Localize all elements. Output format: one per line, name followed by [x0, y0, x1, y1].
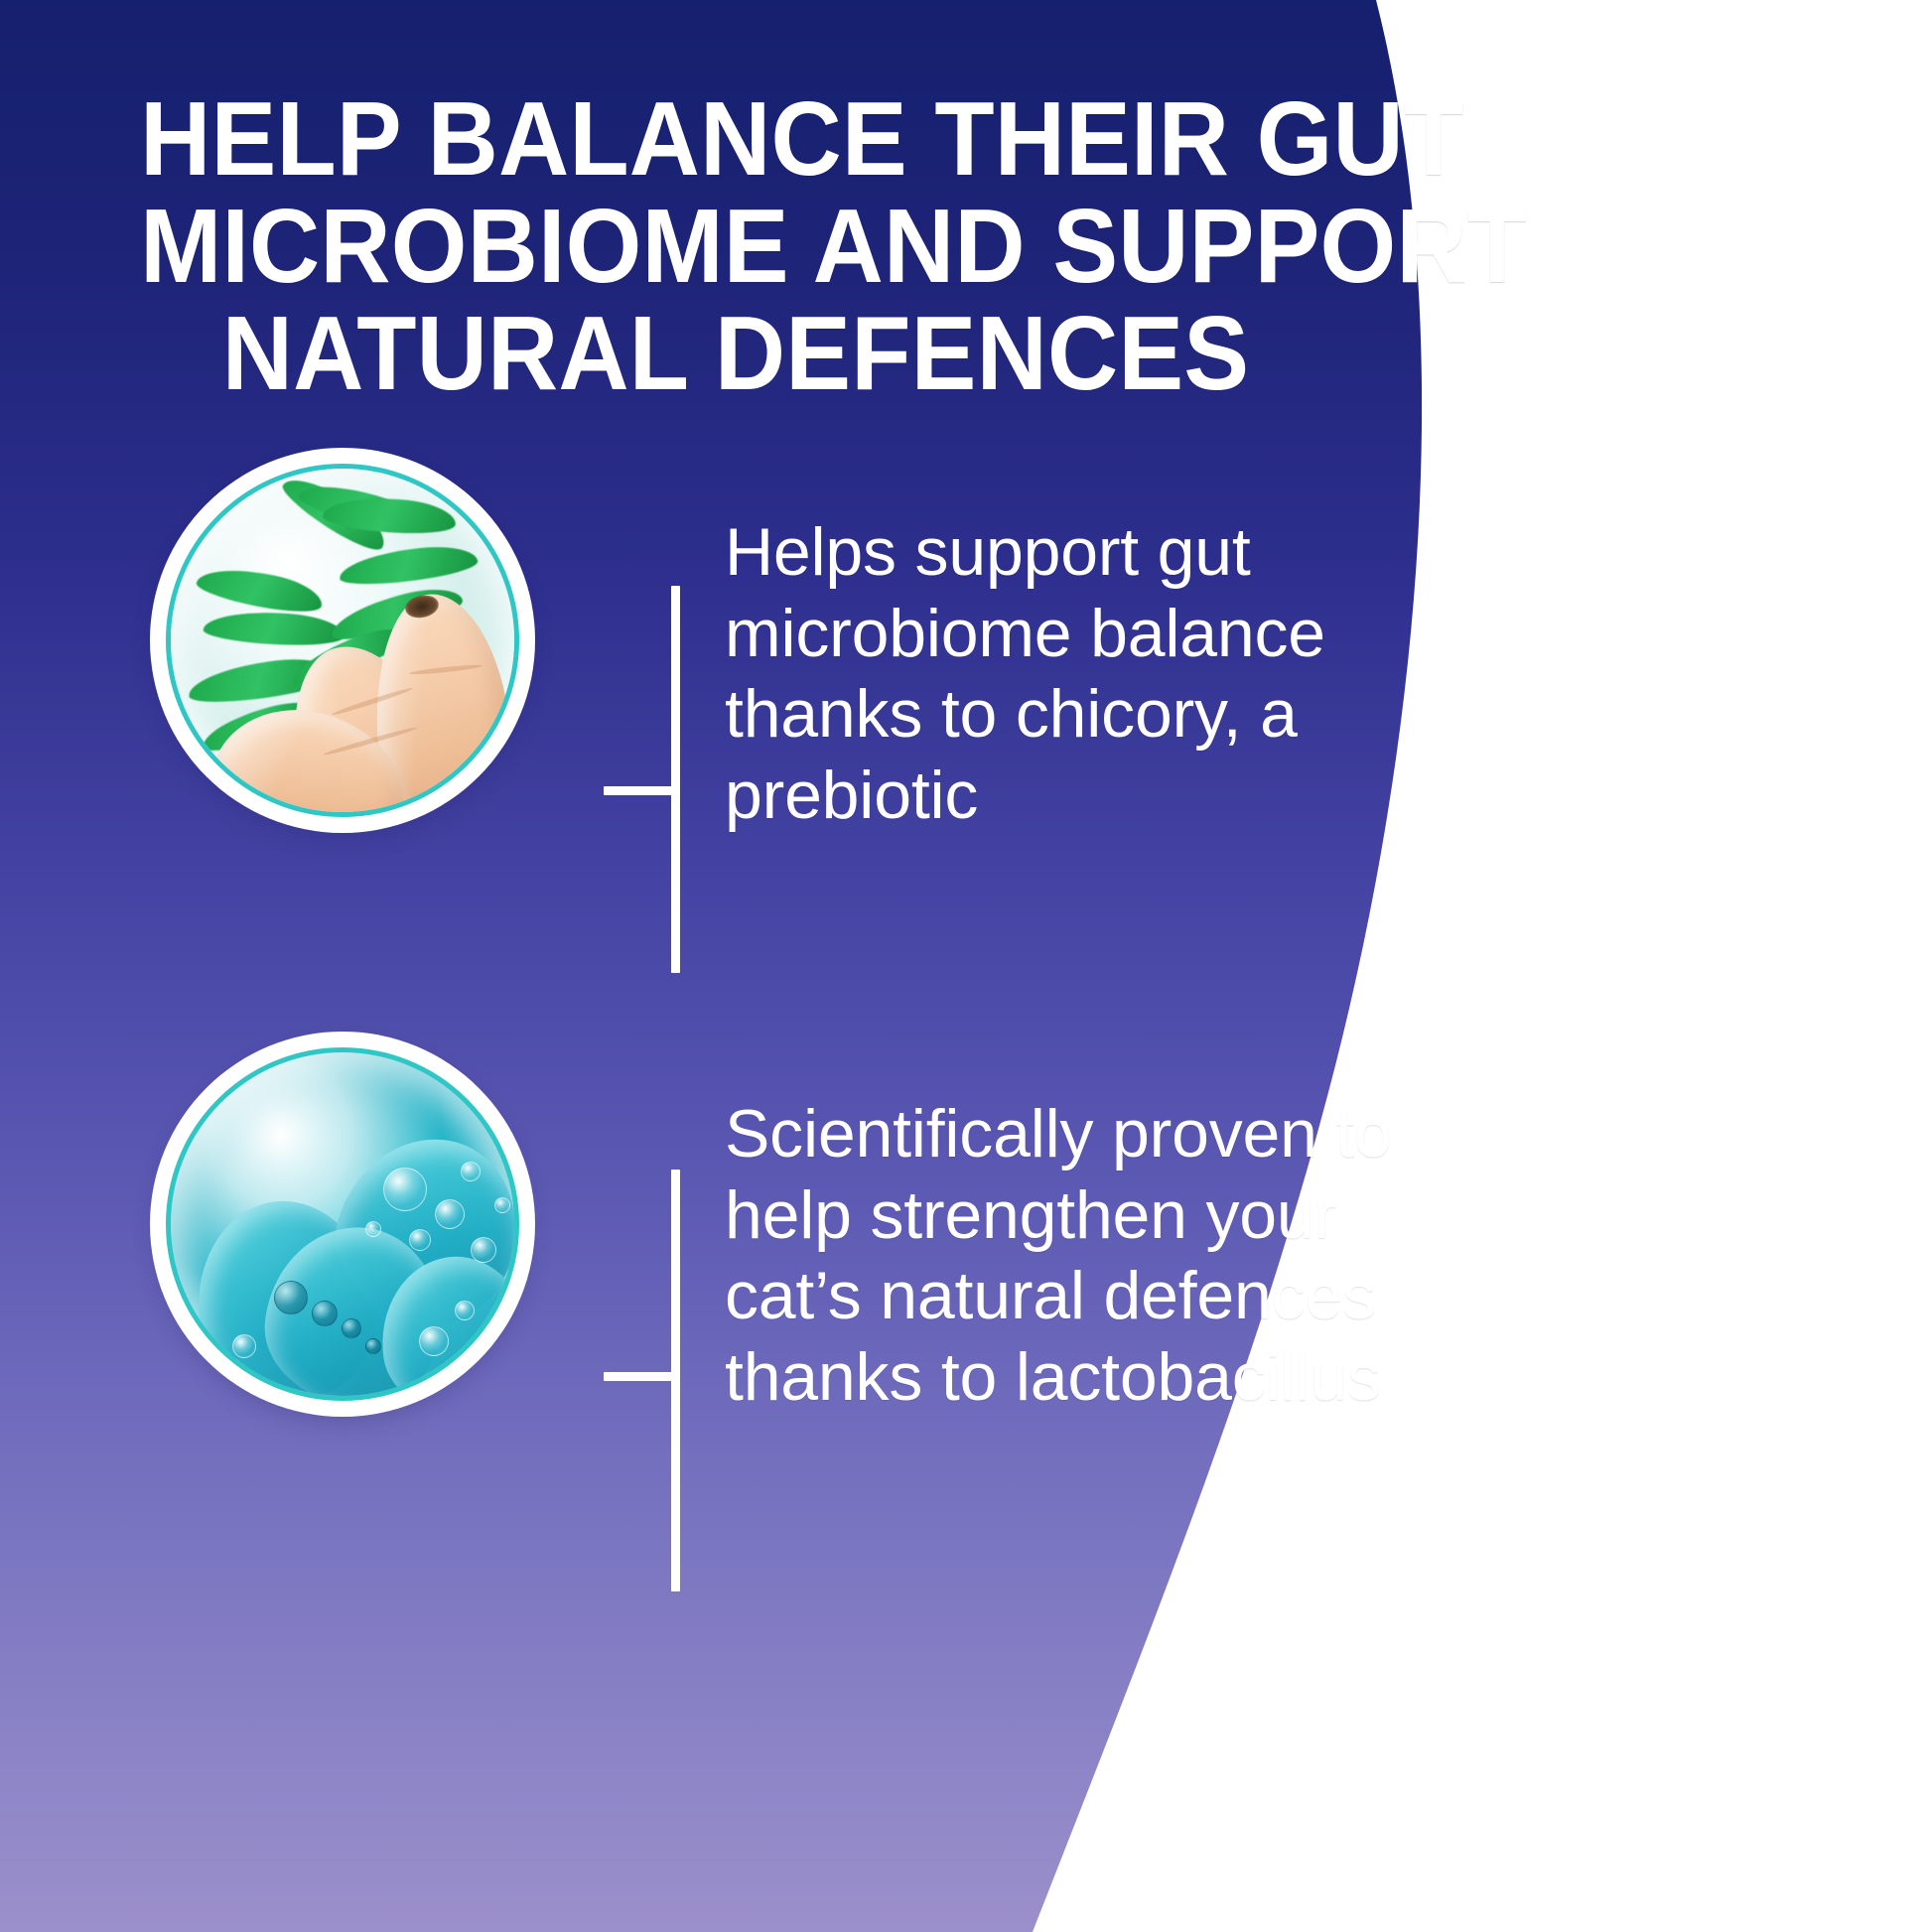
petri-dish-rim: [166, 464, 519, 817]
bracket-tick: [604, 786, 675, 795]
headline-line-2: MICROBIOME AND SUPPORT: [140, 193, 1331, 300]
gel-bubble: [342, 1318, 361, 1338]
gel-bubble: [461, 1162, 481, 1181]
gel-bubble: [494, 1197, 510, 1213]
page-title: HELP BALANCE THEIR GUT MICROBIOME AND SU…: [140, 85, 1331, 407]
petri-dish-outer-ring: [159, 1040, 526, 1408]
headline-line-1: HELP BALANCE THEIR GUT: [140, 85, 1331, 193]
headline-line-3: NATURAL DEFENCES: [140, 300, 1331, 407]
gel-bubble: [365, 1221, 381, 1237]
bracket-tick: [604, 1372, 675, 1381]
lactobacillus-culture-petri-dish: [159, 1040, 526, 1408]
connector-bracket: [526, 457, 725, 836]
gel-bubble: [409, 1229, 431, 1251]
gel-bubble: [232, 1334, 256, 1358]
feature-row-chicory: Helps support gut microbiome balance tha…: [159, 457, 1440, 836]
infographic-canvas: HELP BALANCE THEIR GUT MICROBIOME AND SU…: [0, 0, 1932, 1932]
gel-bubble: [383, 1168, 427, 1211]
gel-bubble: [274, 1281, 308, 1314]
gel-bubble: [365, 1338, 381, 1354]
gel-bubble: [471, 1237, 496, 1263]
petri-dish-outer-ring: [159, 457, 526, 824]
feature-row-lactobacillus: Scientifically proven to help strengthen…: [159, 1040, 1440, 1418]
gel-bubble: [455, 1301, 475, 1320]
gel-bubble: [419, 1326, 449, 1356]
gel-bubble: [312, 1301, 338, 1326]
petri-dish-rim: [166, 1047, 519, 1401]
gel-bubble: [435, 1199, 465, 1229]
connector-bracket: [526, 1040, 725, 1418]
feature-text-chicory: Helps support gut microbiome balance tha…: [725, 457, 1440, 836]
feature-text-lactobacillus: Scientifically proven to help strengthen…: [725, 1040, 1440, 1418]
chicory-parsnip-petri-dish: [159, 457, 526, 824]
bracket-vertical-line: [671, 586, 680, 973]
